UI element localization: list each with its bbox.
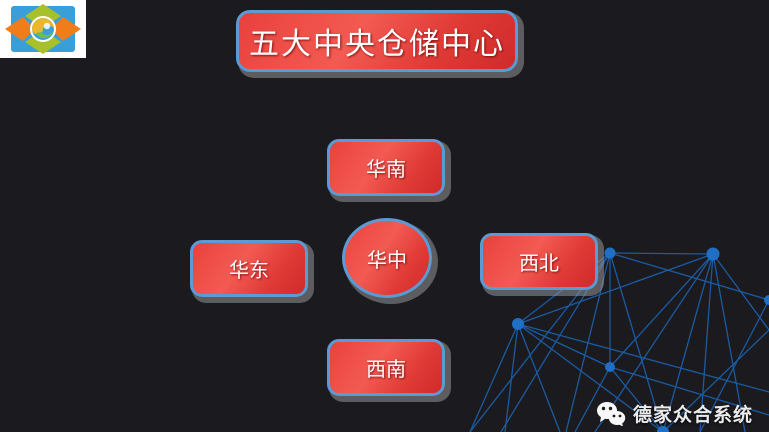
- region-node-east-china[interactable]: 华东: [190, 240, 308, 297]
- slide-canvas: 五大中央仓储中心 华南 华东 华中 西北 西南 德家众合系统: [0, 0, 769, 432]
- company-logo: [0, 0, 86, 58]
- wechat-icon: [596, 401, 626, 426]
- region-node-south-china[interactable]: 华南: [327, 139, 445, 196]
- page-title: 五大中央仓储中心: [236, 10, 518, 72]
- region-node-central-china[interactable]: 华中: [342, 218, 432, 298]
- region-node-southwest[interactable]: 西南: [327, 339, 445, 396]
- watermark: 德家众合系统: [596, 400, 753, 427]
- region-node-northwest[interactable]: 西北: [480, 233, 598, 290]
- pinwheel-logo-icon: [3, 2, 83, 56]
- watermark-label: 德家众合系统: [633, 400, 753, 427]
